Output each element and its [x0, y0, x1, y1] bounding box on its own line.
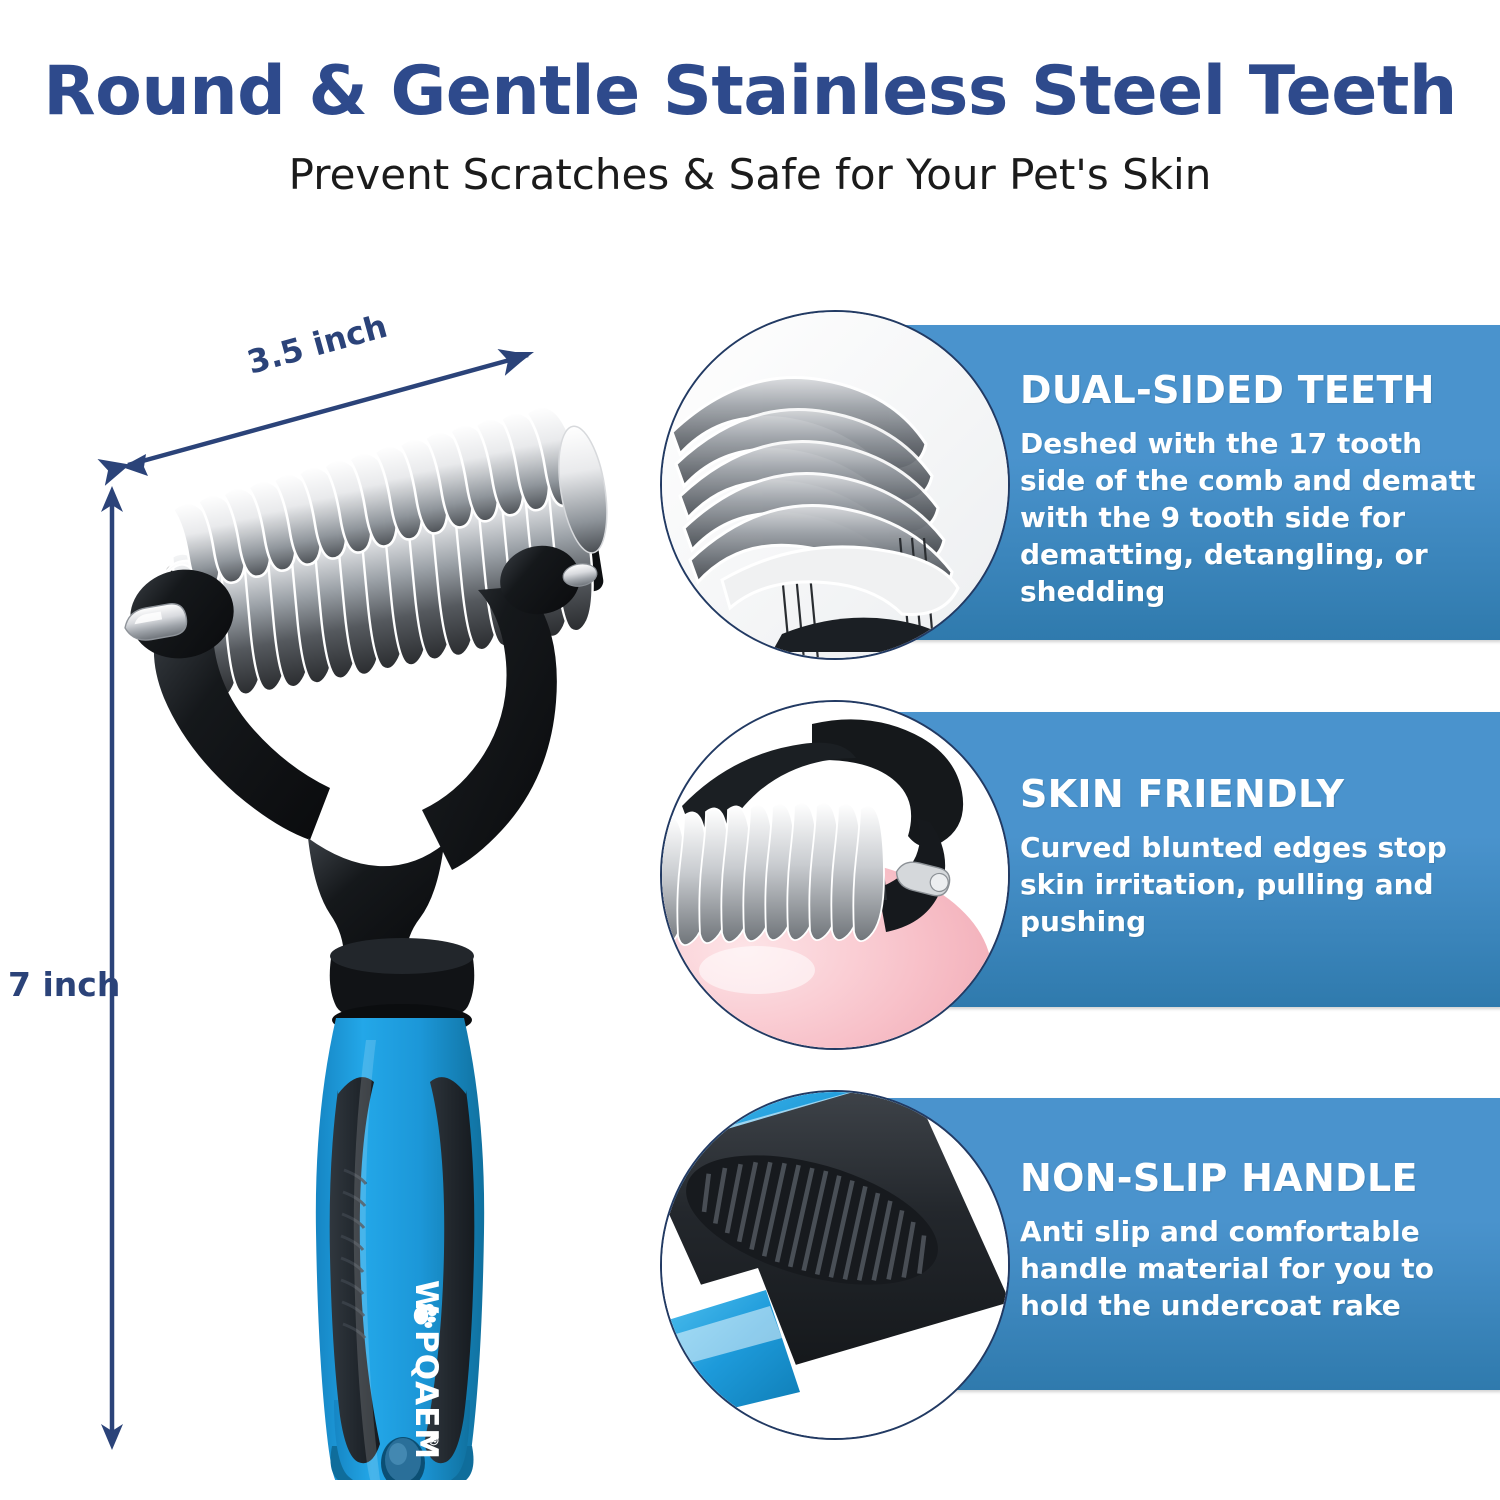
- feature-2-text: SKIN FRIENDLY Curved blunted edges stop …: [1020, 772, 1480, 941]
- dimension-height-label: 7 inch: [8, 965, 120, 1004]
- feature-skin-friendly: SKIN FRIENDLY Curved blunted edges stop …: [660, 700, 1500, 1060]
- brand-logo: W PQAEM ®: [408, 1280, 444, 1460]
- feature-2-heading: SKIN FRIENDLY: [1020, 772, 1480, 816]
- feature-non-slip-handle: NON-SLIP HANDLE Anti slip and comfortabl…: [660, 1090, 1500, 1450]
- non-slip-handle-closeup: [660, 1090, 1010, 1440]
- infographic-page: Round & Gentle Stainless Steel Teeth Pre…: [0, 0, 1500, 1500]
- feature-3-heading: NON-SLIP HANDLE: [1020, 1156, 1480, 1200]
- page-subtitle: Prevent Scratches & Safe for Your Pet's …: [0, 150, 1500, 199]
- feature-2-body: Curved blunted edges stop skin irritatio…: [1020, 830, 1480, 941]
- feature-3-body: Anti slip and comfortable handle materia…: [1020, 1214, 1480, 1325]
- product-photo: W PQAEM ®: [120, 400, 680, 1480]
- feature-1-text: DUAL-SIDED TEETH Deshed with the 17 toot…: [1020, 368, 1480, 611]
- feature-3-text: NON-SLIP HANDLE Anti slip and comfortabl…: [1020, 1156, 1480, 1325]
- dimension-width-label: 3.5 inch: [243, 307, 391, 382]
- skin-friendly-closeup: [660, 700, 1010, 1050]
- feature-dual-sided-teeth: DUAL-SIDED TEETH Deshed with the 17 toot…: [660, 310, 1500, 670]
- svg-text:®: ®: [425, 1434, 440, 1447]
- page-title: Round & Gentle Stainless Steel Teeth: [0, 52, 1500, 131]
- feature-1-body: Deshed with the 17 tooth side of the com…: [1020, 426, 1480, 611]
- dual-sided-teeth-closeup: [660, 310, 1010, 660]
- feature-1-heading: DUAL-SIDED TEETH: [1020, 368, 1480, 412]
